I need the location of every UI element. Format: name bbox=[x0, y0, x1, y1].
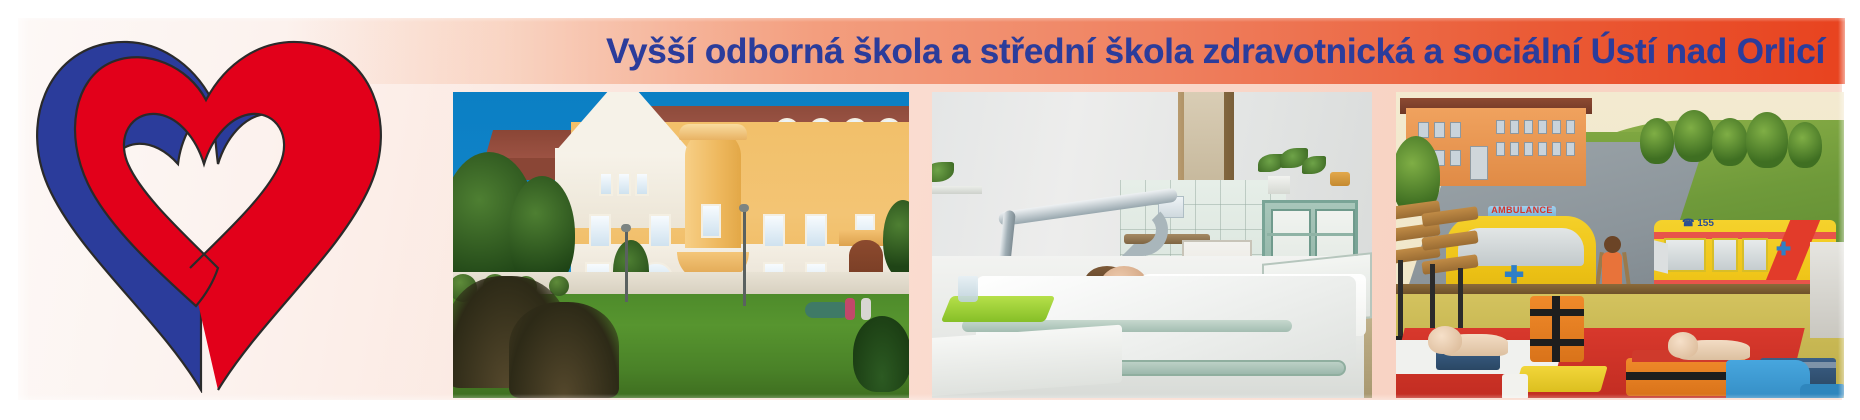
school-header-banner: Vyšší odborná škola a střední škola zdra… bbox=[0, 0, 1860, 420]
mural-emergency-number: ☎ 155 bbox=[1682, 218, 1736, 230]
school-building-photo bbox=[453, 92, 909, 398]
star-of-life-icon-van: ✚ bbox=[1776, 240, 1791, 258]
mural-ambulance-car-label: AMBULANCE bbox=[1488, 206, 1556, 215]
school-name-title: Vyšší odborná škola a střední škola zdra… bbox=[606, 34, 1825, 69]
first-aid-training-room-photo: AMBULANCE ✚ ✚ ☎ 155 ZÁCHRANNÁ SLUŽBA bbox=[1396, 92, 1844, 398]
edge-fade-bottom bbox=[0, 394, 1860, 420]
nursing-practice-room-photo bbox=[932, 92, 1372, 398]
phone-icon: ☎ bbox=[1682, 218, 1694, 229]
edge-fade-right bbox=[1838, 0, 1860, 420]
edge-fade-left bbox=[0, 0, 30, 420]
red-heart-shape bbox=[75, 42, 381, 390]
edge-fade-top bbox=[0, 0, 1860, 22]
title-bar: Vyšší odborná škola a střední škola zdra… bbox=[286, 18, 1845, 84]
school-logo[interactable] bbox=[18, 18, 388, 393]
